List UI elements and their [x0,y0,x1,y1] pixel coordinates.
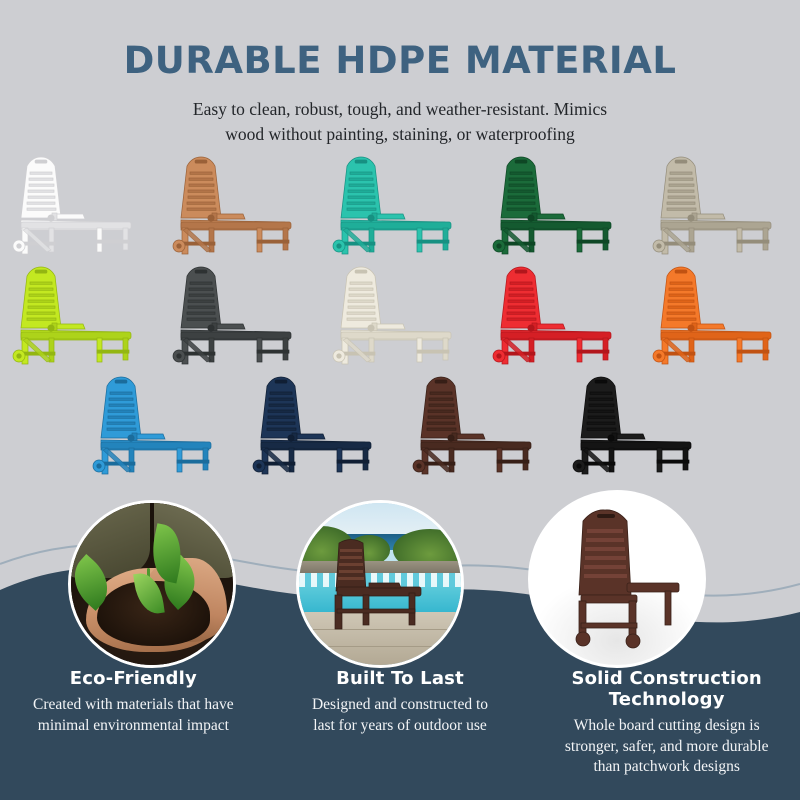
chaise-lounge-ivory [325,264,475,372]
chaise-lounge-beige [645,154,795,262]
chair-row-3 [0,372,800,482]
feature-body-eco-friendly: Created with materials that have minimal… [14,695,253,736]
chair-swatch-brown [400,372,560,482]
chaise-lounge-white [5,154,155,262]
feature-body-built-to-last: Designed and constructed to last for yea… [281,695,520,736]
feature-solid-construction: Solid Construction Technology Whole boar… [533,668,800,778]
feature-heading-eco-friendly: Eco-Friendly [14,668,253,689]
header: DURABLE HDPE MATERIAL Easy to clean, rob… [0,0,800,148]
chair-swatch-teak [160,152,320,262]
solid-construction-photo [528,490,706,668]
chaise-lounge-black [565,374,715,482]
chaise-lounge-dark-green [485,154,635,262]
chaise-photo-rear [553,505,687,655]
chair-swatch-orange [640,262,800,372]
chair-swatch-lime-green [0,262,160,372]
chaise-lounge-red [485,264,635,372]
chair-color-grid [0,152,800,482]
chaise-lounge-orange [645,264,795,372]
feature-heading-solid-construction: Solid Construction Technology [547,668,786,710]
subtitle-line-2: wood without painting, staining, or wate… [225,124,574,144]
chaise-lounge-sky-blue [85,374,235,482]
chair-row-1 [0,152,800,262]
chaise-lounge-dark-gray [165,264,315,372]
feature-body-line: stronger, safer, and more durable [565,738,769,755]
feature-body-line: than patchwork designs [594,758,740,775]
chair-row-2 [0,262,800,372]
chair-swatch-black [560,372,720,482]
chaise-rear-view-icon [531,493,703,665]
feature-built-to-last: Built To Last Designed and constructed t… [267,668,534,778]
hands-holding-seedling-icon [71,503,233,665]
chair-swatch-sky-blue [80,372,240,482]
feature-body-line: Created with materials that have [33,696,234,713]
feature-body-line: minimal environmental impact [38,717,229,734]
chaise-lounge-teak [165,154,315,262]
chair-swatch-red [480,262,640,372]
chaise-lounge-brown [405,374,555,482]
feature-body-line: Designed and constructed to [312,696,488,713]
page-title: DURABLE HDPE MATERIAL [0,0,800,79]
chaise-lounge-navy-blue [245,374,395,482]
feature-body-line: Whole board cutting design is [574,717,760,734]
chair-swatch-dark-green [480,152,640,262]
page-subtitle: Easy to clean, robust, tough, and weathe… [120,79,680,148]
infographic-canvas: DURABLE HDPE MATERIAL Easy to clean, rob… [0,0,800,800]
eco-friendly-photo [68,500,236,668]
chair-swatch-navy-blue [240,372,400,482]
subtitle-line-1: Easy to clean, robust, tough, and weathe… [193,99,607,119]
feature-columns: Eco-Friendly Created with materials that… [0,668,800,778]
chair-swatch-ivory [320,262,480,372]
built-to-last-photo [296,500,464,668]
feature-body-line: last for years of outdoor use [313,717,486,734]
chair-swatch-white [0,152,160,262]
chaise-lounge-lime-green [5,264,155,372]
feature-eco-friendly: Eco-Friendly Created with materials that… [0,668,267,778]
chair-swatch-beige [640,152,800,262]
chair-swatch-turquoise [320,152,480,262]
poolside-chaise-icon [299,503,461,665]
chaise-photo-side [313,537,445,641]
feature-body-solid-construction: Whole board cutting design is stronger, … [547,716,786,777]
chair-swatch-dark-gray [160,262,320,372]
chaise-lounge-turquoise [325,154,475,262]
feature-heading-built-to-last: Built To Last [281,668,520,689]
